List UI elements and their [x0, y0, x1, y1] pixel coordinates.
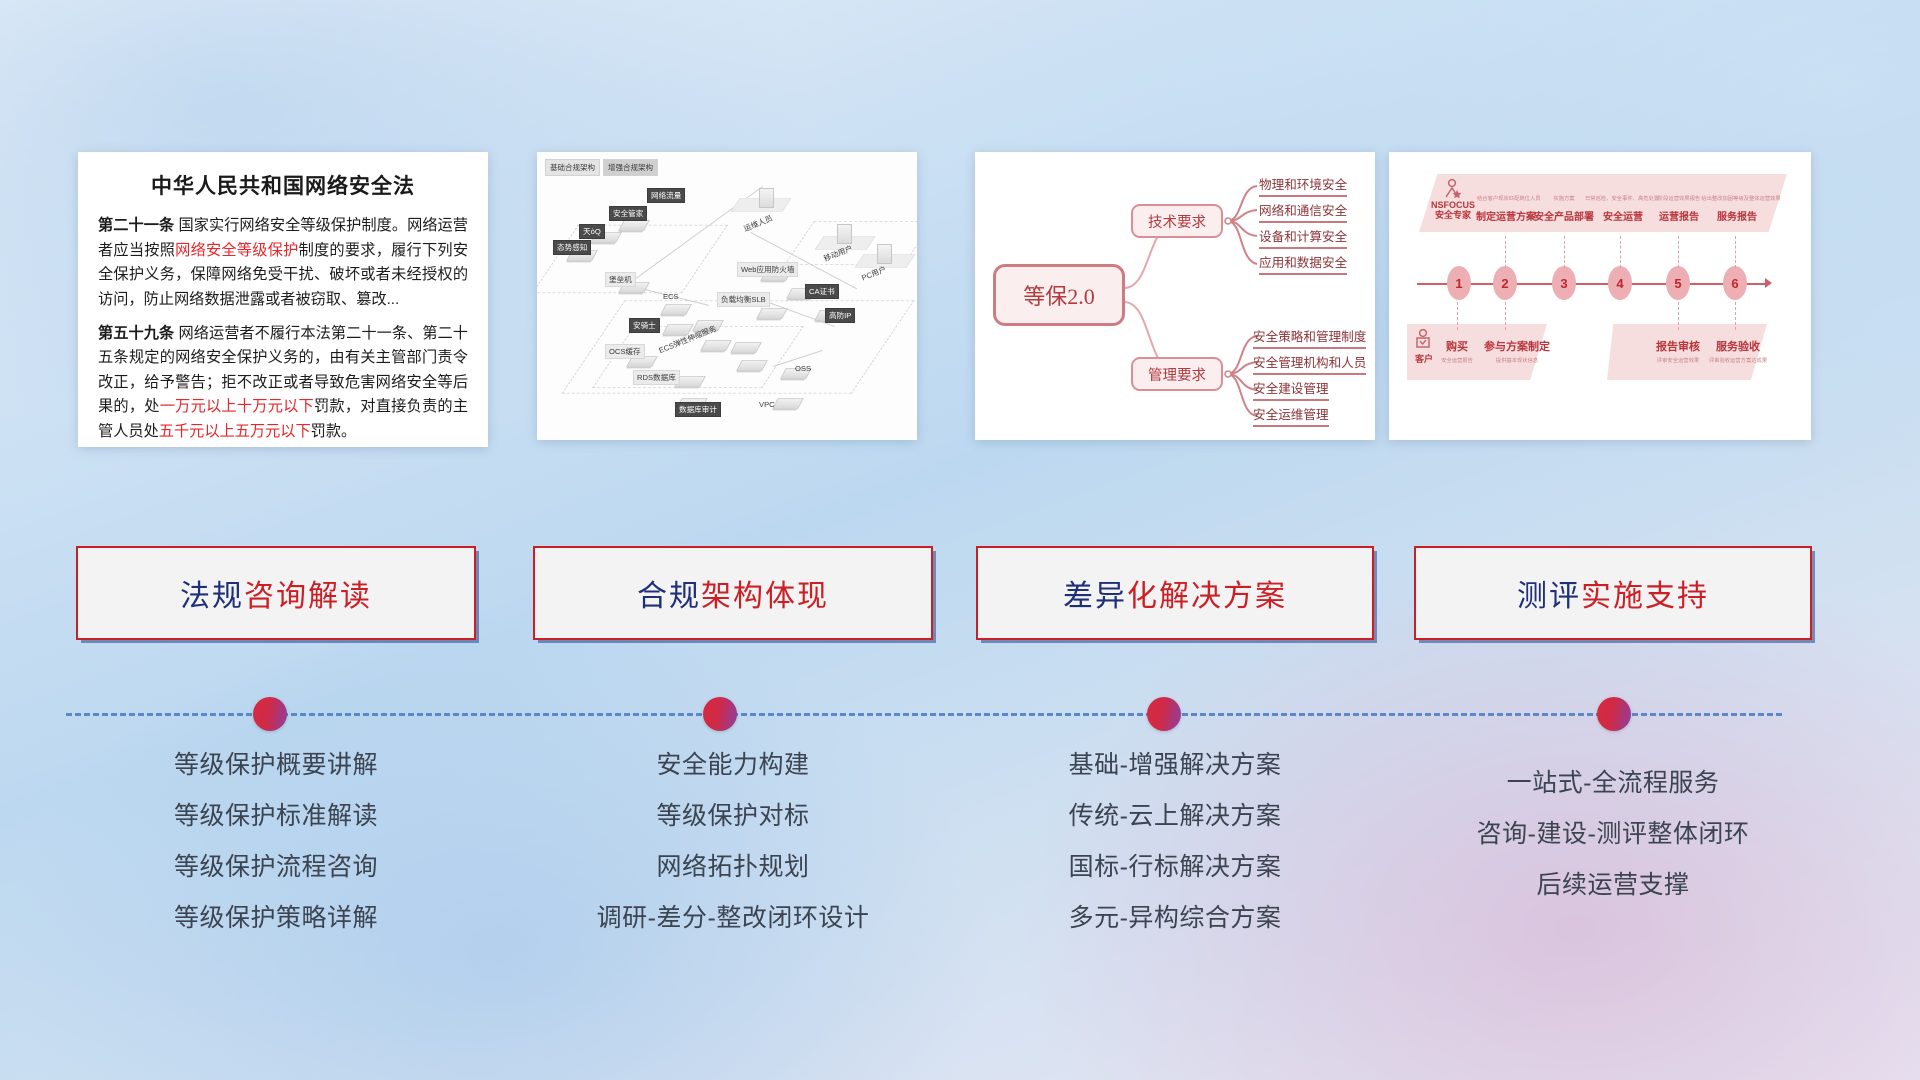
timeline-arrow-icon — [1765, 278, 1772, 288]
timeline-dashed-line — [66, 713, 1782, 716]
list-item: 网络拓扑规划 — [533, 842, 933, 893]
connector-dash — [1505, 236, 1506, 268]
title-part-blue: 差异 — [1063, 580, 1127, 613]
list-item: 等级保护策略详解 — [76, 893, 476, 944]
mindmap-leaf: 网络和通信安全 — [1259, 200, 1347, 223]
timeline-step-node: 2 — [1493, 266, 1517, 300]
server-icon — [877, 244, 892, 264]
list-item: 国标-行标解决方案 — [976, 842, 1374, 893]
node-label-database-audit: 数据库审计 — [675, 402, 721, 417]
section-title-box-2[interactable]: 合规架构体现 — [533, 546, 933, 640]
timeline-dot-1[interactable] — [253, 697, 287, 731]
section-title-box-4[interactable]: 测评实施支持 — [1414, 546, 1812, 640]
list-item: 安全能力构建 — [533, 740, 933, 791]
timeline-step-node: 1 — [1447, 266, 1471, 300]
title-part-red: 咨询解读 — [244, 580, 372, 613]
step-title: 安全产品部署 — [1531, 208, 1597, 223]
step-title: 制定运营方案 — [1473, 208, 1539, 223]
step-title: 运营报告 — [1653, 208, 1705, 223]
section-title-box-3[interactable]: 差异化解决方案 — [976, 546, 1374, 640]
mindmap-branch-technical: 技术要求 — [1131, 204, 1223, 238]
node-label-ops-staff: 运维人员 — [742, 213, 774, 235]
node-cube — [772, 398, 804, 409]
connector-dash — [1678, 236, 1679, 268]
card-architecture-diagram: 基础合规架构 增强合规架构 — [537, 152, 917, 440]
mindmap-canvas: 等保2.0 技术要求 管理要求 物理和环境安全 网络和通信安全 设备和计算安全 … — [975, 152, 1375, 440]
expert-person-icon — [1441, 178, 1463, 200]
law-seg-highlight: 五千元以上五万元以下 — [159, 423, 311, 440]
timeline-step-node: 4 — [1608, 266, 1632, 300]
law-article-label: 第二十一条 — [98, 217, 174, 234]
title-part-blue: 合规 — [637, 580, 701, 613]
node-label-tianqi: 天òQ — [579, 224, 605, 239]
list-item: 一站式-全流程服务 — [1414, 758, 1812, 809]
bottom-step-subtitle: 安全运营报告 — [1433, 356, 1481, 364]
node-label-rds-database: RDS数据库 — [633, 370, 680, 385]
section-list-2: 安全能力构建 等级保护对标 网络拓扑规划 调研-差分-整改闭环设计 — [533, 740, 933, 944]
node-label-network-traffic: 网络流量 — [647, 188, 685, 203]
node-label-slb: 负载均衡SLB — [717, 292, 770, 307]
timeline-step-node: 5 — [1666, 266, 1690, 300]
timeline-dot-3[interactable] — [1147, 697, 1181, 731]
slide-canvas: 中华人民共和国网络安全法 第二十一条 国家实行网络安全等级保护制度。网络运营者应… — [0, 0, 1920, 1080]
connector-dash — [1564, 236, 1565, 268]
node-label-waf: Web应用防火墙 — [737, 262, 798, 277]
law-seg-highlight: 一万元以上十万元以下 — [160, 398, 314, 415]
server-icon — [759, 188, 774, 208]
image-cards-row: 中华人民共和国网络安全法 第二十一条 国家实行网络安全等级保护制度。网络运营者应… — [0, 152, 1920, 452]
architecture-graph: 网络流量 安全管家 天òQ 态势感知 堡垒机 安骑士 ECS OCS缓存 RDS… — [537, 152, 917, 440]
card-nsfocus-timeline: NSFOCUS 安全专家 客户 1 2 3 4 5 6 — [1389, 152, 1811, 440]
list-item: 基础-增强解决方案 — [976, 740, 1374, 791]
list-item: 传统-云上解决方案 — [976, 791, 1374, 842]
law-card-body: 中华人民共和国网络安全法 第二十一条 国家实行网络安全等级保护制度。网络运营者应… — [78, 152, 488, 447]
law-seg: 罚款。 — [311, 423, 357, 440]
node-label-security-agent: 安骑士 — [629, 318, 660, 333]
connector-dash — [1505, 302, 1506, 330]
step-title: 服务报告 — [1711, 208, 1763, 223]
node-label-oss: OSS — [795, 364, 811, 373]
section-list-3: 基础-增强解决方案 传统-云上解决方案 国标-行标解决方案 多元-异构综合方案 — [976, 740, 1374, 944]
nsfocus-canvas: NSFOCUS 安全专家 客户 1 2 3 4 5 6 — [1389, 152, 1811, 440]
step-subtitle: 实施方案 — [1541, 194, 1587, 202]
title-part-red: 实施支持 — [1581, 580, 1709, 613]
connector-dash — [1457, 302, 1458, 330]
list-item: 咨询-建设-测评整体闭环 — [1414, 809, 1812, 860]
list-item: 等级保护流程咨询 — [76, 842, 476, 893]
timeline-dot-4[interactable] — [1597, 697, 1631, 731]
node-label-vpc: VPC — [759, 400, 775, 409]
mindmap-leaf: 安全管理机构和人员 — [1253, 352, 1366, 375]
mindmap-root-node: 等保2.0 — [993, 264, 1125, 326]
section-title-4: 测评实施支持 — [1517, 571, 1709, 615]
bottom-step-title: 参与方案制定 — [1477, 338, 1557, 354]
step-subtitle: 给出整改加固等级及整体运营效果 — [1699, 194, 1783, 202]
mindmap-branch-management: 管理要求 — [1131, 357, 1223, 391]
server-icon — [837, 224, 852, 244]
list-item: 等级保护概要讲解 — [76, 740, 476, 791]
bottom-step-title: 服务验收 — [1705, 338, 1771, 354]
card-mindmap: 等保2.0 技术要求 管理要求 物理和环境安全 网络和通信安全 设备和计算安全 … — [975, 152, 1375, 440]
node-label-ocs-cache: OCS缓存 — [605, 344, 645, 359]
mindmap-leaf: 应用和数据安全 — [1259, 252, 1347, 275]
card-law-text: 中华人民共和国网络安全法 第二十一条 国家实行网络安全等级保护制度。网络运营者应… — [78, 152, 488, 447]
law-paragraph: 第五十九条 网络运营者不履行本法第二十一条、第二十五条规定的网络安全保护义务的，… — [98, 322, 468, 445]
timeline-step-node: 3 — [1552, 266, 1576, 300]
law-paragraph: 第二十一条 国家实行网络安全等级保护制度。网络运营者应当按照网络安全等级保护制度… — [98, 214, 468, 313]
section-list-4: 一站式-全流程服务 咨询-建设-测评整体闭环 后续运营支撑 — [1414, 758, 1812, 911]
architecture-tabs: 基础合规架构 增强合规架构 — [545, 159, 658, 176]
mindmap-leaf: 安全运维管理 — [1253, 404, 1329, 427]
connector-dash — [1620, 236, 1621, 268]
mindmap-leaf: 物理和环境安全 — [1259, 174, 1347, 197]
law-seg-highlight: 网络安全等级保护 — [175, 242, 298, 259]
step-subtitle: 结合客户现状匹配岗位人员 — [1477, 194, 1535, 202]
section-list-1: 等级保护概要讲解 等级保护标准解读 等级保护流程咨询 等级保护策略详解 — [76, 740, 476, 944]
title-part-blue: 法规 — [180, 580, 244, 613]
connector-dash — [1735, 236, 1736, 268]
node-label-ecs: ECS — [663, 292, 679, 301]
step-title: 安全运营 — [1595, 208, 1651, 223]
timeline-dot-2[interactable] — [703, 697, 737, 731]
section-title-1: 法规咨询解读 — [180, 571, 372, 615]
bottom-step-subtitle: 提供基本现状信息 — [1477, 356, 1557, 364]
list-item: 后续运营支撑 — [1414, 860, 1812, 911]
law-title: 中华人民共和国网络安全法 — [98, 170, 468, 200]
section-title-3: 差异化解决方案 — [1063, 571, 1287, 615]
section-title-2: 合规架构体现 — [637, 571, 829, 615]
node-label-situation-awareness: 态势感知 — [553, 240, 591, 255]
node-label-bastion-host: 堡垒机 — [605, 272, 636, 287]
node-label-ca-certificate: CA证书 — [805, 284, 839, 299]
section-titles-row: 法规咨询解读 合规架构体现 差异化解决方案 测评实施支持 — [0, 546, 1920, 646]
connector-dash — [1678, 302, 1679, 330]
law-article-label: 第五十九条 — [98, 325, 174, 342]
title-part-blue: 测评 — [1517, 580, 1581, 613]
connector-dash — [1735, 302, 1736, 330]
bottom-step-title: 购买 — [1435, 338, 1479, 354]
list-item: 多元-异构综合方案 — [976, 893, 1374, 944]
tab-basic-architecture[interactable]: 基础合规架构 — [545, 159, 600, 176]
list-item: 等级保护对标 — [533, 791, 933, 842]
customer-person-icon — [1413, 328, 1433, 352]
timeline-step-node: 6 — [1723, 266, 1747, 300]
node-label-anti-ddos-ip: 高防IP — [825, 308, 855, 323]
mindmap-leaf: 设备和计算安全 — [1259, 226, 1347, 249]
title-part-red: 架构体现 — [701, 580, 829, 613]
list-item: 等级保护标准解读 — [76, 791, 476, 842]
bottom-step-title: 报告审核 — [1645, 338, 1711, 354]
mindmap-leaf: 安全建设管理 — [1253, 378, 1329, 401]
mindmap-leaf: 安全策略和管理制度 — [1253, 326, 1366, 349]
bottom-step-subtitle: 评审验收运营方案达成果 — [1697, 356, 1779, 364]
title-part-red: 化解决方案 — [1127, 580, 1287, 613]
list-item: 调研-差分-整改闭环设计 — [533, 893, 933, 944]
timeline-strip — [0, 694, 1920, 734]
section-lists-row: 等级保护概要讲解 等级保护标准解读 等级保护流程咨询 等级保护策略详解 安全能力… — [0, 740, 1920, 980]
section-title-box-1[interactable]: 法规咨询解读 — [76, 546, 476, 640]
node-label-security-butler: 安全管家 — [609, 206, 647, 221]
architecture-canvas: 基础合规架构 增强合规架构 — [537, 152, 917, 440]
tab-enhanced-architecture[interactable]: 增强合规架构 — [603, 159, 658, 176]
